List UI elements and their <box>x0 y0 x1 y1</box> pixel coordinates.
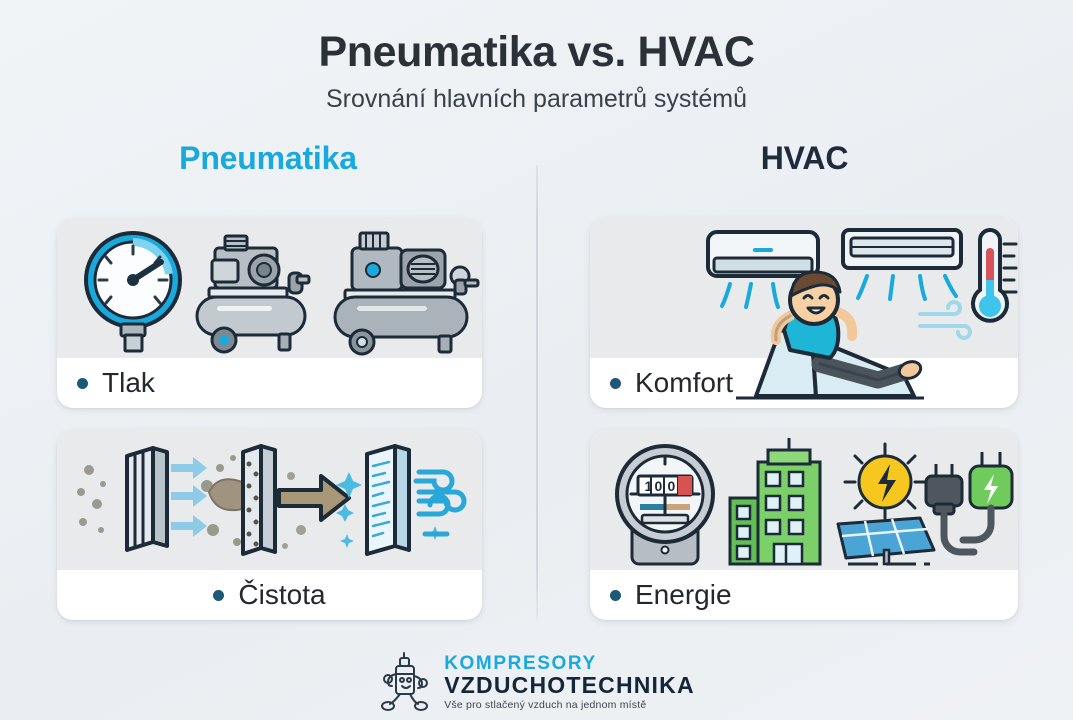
card-komfort-artwork <box>590 218 1018 358</box>
air-compressor-large-icon <box>335 233 478 354</box>
bullet-icon <box>77 378 88 389</box>
card-energie[interactable]: 1 0 0 <box>590 430 1018 620</box>
ceiling-ac-unit-icon <box>843 230 961 299</box>
electricity-meter-icon: 1 0 0 <box>617 446 713 564</box>
column-heading-hvac: HVAC <box>536 140 1073 177</box>
card-tlak[interactable]: Tlak <box>57 218 482 408</box>
header: Pneumatika vs. HVAC Srovnání hlavních pa… <box>0 0 1073 114</box>
compressor-mascot-icon <box>378 652 434 712</box>
card-tlak-label: Tlak <box>102 367 155 399</box>
card-komfort-label-bar: Komfort <box>590 358 1018 408</box>
dust-particles-icon <box>77 465 106 533</box>
clean-filter-icon <box>336 446 464 554</box>
card-tlak-artwork <box>57 218 482 358</box>
brand-line-1: KOMPRESORY <box>444 654 695 673</box>
bullet-icon <box>610 378 621 389</box>
meter-digit-1: 1 <box>645 478 653 494</box>
infographic-page: Pneumatika vs. HVAC Srovnání hlavních pa… <box>0 0 1073 720</box>
green-building-icon <box>730 438 820 564</box>
column-heading-pneumatika: Pneumatika <box>0 140 536 177</box>
meter-digit-2: 0 <box>655 478 663 494</box>
page-title: Pneumatika vs. HVAC <box>0 30 1073 75</box>
card-tlak-label-bar: Tlak <box>57 358 482 408</box>
brand-text: KOMPRESORY VZDUCHOTECHNIKA Vše pro stlač… <box>444 654 695 711</box>
card-komfort-label: Komfort <box>635 367 733 399</box>
card-energie-artwork: 1 0 0 <box>590 430 1018 570</box>
sun-energy-icon <box>845 444 925 518</box>
page-subtitle: Srovnání hlavních parametrů systémů <box>0 85 1073 114</box>
comparison-grid: Tlak <box>0 218 1073 618</box>
solar-panel-icon <box>838 518 934 564</box>
airflow-arrows-icon <box>171 457 207 537</box>
airflow-swirl-icon <box>416 472 464 534</box>
card-cistota-label: Čistota <box>238 579 325 611</box>
card-energie-label-bar: Energie <box>590 570 1018 620</box>
footer-branding: KOMPRESORY VZDUCHOTECHNIKA Vše pro stlač… <box>0 652 1073 712</box>
pressure-gauge-icon <box>86 233 180 351</box>
card-cistota-artwork <box>57 430 482 570</box>
card-cistota-label-bar: Čistota <box>57 570 482 620</box>
air-compressor-icon <box>197 236 309 352</box>
split-ac-unit-icon <box>708 232 818 307</box>
card-komfort[interactable]: Komfort <box>590 218 1018 408</box>
air-filter-icon <box>127 448 167 550</box>
bullet-icon <box>610 590 621 601</box>
meter-digit-3: 0 <box>668 478 676 494</box>
bullet-icon <box>213 590 224 601</box>
card-energie-label: Energie <box>635 579 732 611</box>
card-cistota[interactable]: Čistota <box>57 430 482 620</box>
brand-tagline: Vše pro stlačený vzduch na jednom místě <box>444 700 695 711</box>
power-plug-icon <box>926 452 1012 552</box>
brand-line-2: VZDUCHOTECHNIKA <box>444 674 695 697</box>
